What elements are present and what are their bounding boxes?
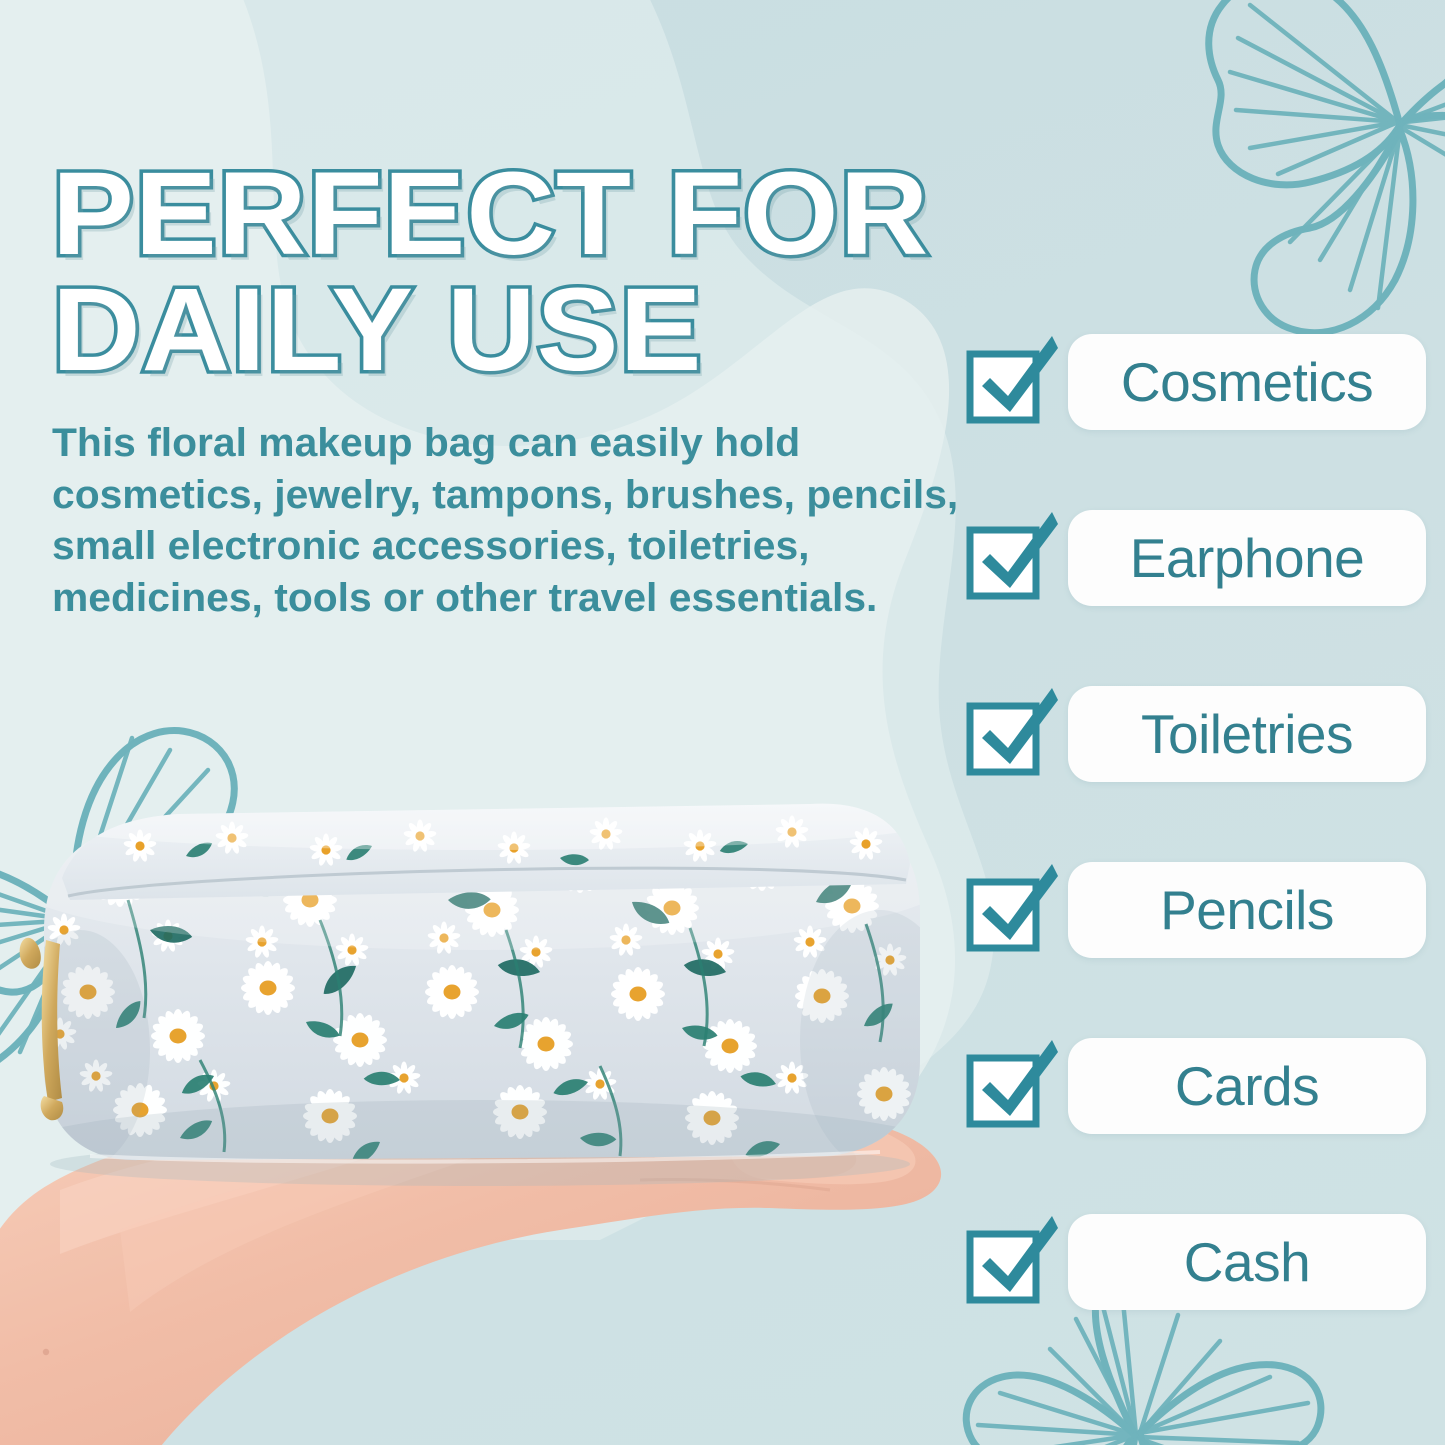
checklist-label: Pencils — [1160, 883, 1334, 938]
page-title-line-2: Daily Use — [52, 273, 1019, 389]
product-infographic: Perfect for Daily Use This floral makeup… — [0, 0, 1445, 1445]
checklist-label: Toiletries — [1141, 707, 1353, 762]
checklist-pill[interactable]: Cosmetics — [1068, 334, 1426, 430]
checklist-pill[interactable]: Pencils — [1068, 862, 1426, 958]
gold-zipper — [20, 938, 64, 1121]
hibiscus-outline-icon-top-right — [1150, 0, 1445, 340]
checklist-label: Cards — [1175, 1059, 1319, 1114]
checklist-pill[interactable]: Toiletries — [1068, 686, 1426, 782]
checkbox-checked-icon[interactable] — [966, 514, 1058, 602]
checklist-pill[interactable]: Cash — [1068, 1214, 1426, 1310]
checkbox-checked-icon[interactable] — [966, 1218, 1058, 1306]
checklist-pill[interactable]: Earphone — [1068, 510, 1426, 606]
checklist-label: Cosmetics — [1121, 355, 1373, 410]
checklist-item-cash[interactable]: Cash — [966, 1213, 1426, 1311]
use-case-checklist: Cosmetics Earphone Toiletr — [966, 333, 1426, 1311]
checklist-label: Earphone — [1130, 531, 1365, 586]
checkbox-checked-icon[interactable] — [966, 690, 1058, 778]
checkbox-checked-icon[interactable] — [966, 338, 1058, 426]
checklist-item-toiletries[interactable]: Toiletries — [966, 685, 1426, 783]
checklist-item-cards[interactable]: Cards — [966, 1037, 1426, 1135]
page-title-line-1: Perfect for — [52, 157, 1019, 273]
checklist-item-earphone[interactable]: Earphone — [966, 509, 1426, 607]
product-photo — [0, 760, 960, 1445]
page-title: Perfect for Daily Use — [52, 157, 1019, 388]
product-description: This floral makeup bag can easily hold c… — [52, 418, 975, 624]
checkbox-checked-icon[interactable] — [966, 866, 1058, 954]
checklist-item-cosmetics[interactable]: Cosmetics — [966, 333, 1426, 431]
checkbox-checked-icon[interactable] — [966, 1042, 1058, 1130]
checklist-item-pencils[interactable]: Pencils — [966, 861, 1426, 959]
floral-makeup-bag — [10, 790, 960, 1200]
checklist-label: Cash — [1184, 1235, 1310, 1290]
checklist-pill[interactable]: Cards — [1068, 1038, 1426, 1134]
